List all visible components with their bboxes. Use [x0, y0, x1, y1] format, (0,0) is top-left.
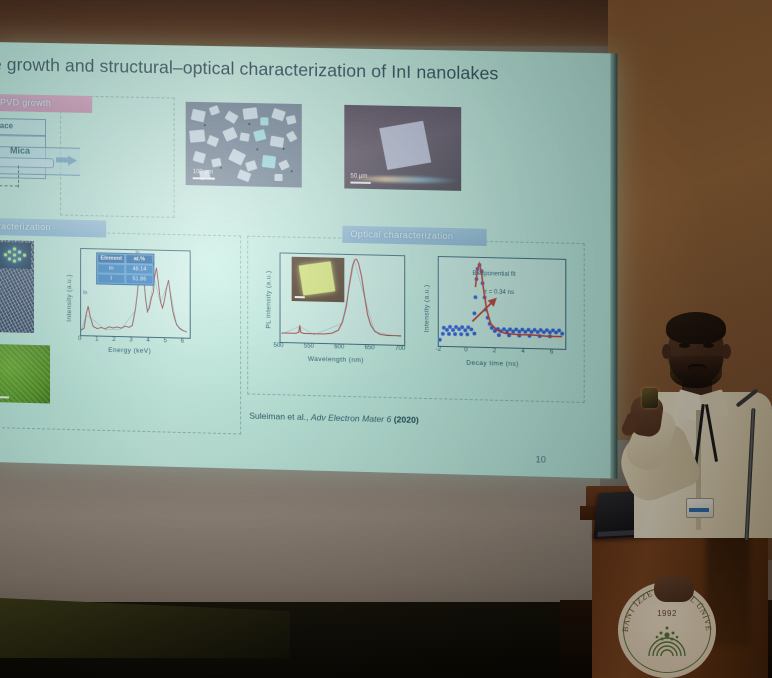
scale-bar: [193, 177, 215, 180]
section-tag-structural: and compositional characterization: [0, 216, 106, 238]
trpl-xtick-0: -2: [436, 347, 441, 353]
edx-xtick-2: 2: [112, 337, 115, 343]
presenter-hair: [666, 312, 726, 344]
citation: Suleiman et al., Adv Electron Mater 6 (2…: [249, 411, 419, 425]
edx-spectrum-chart: Element at.% In 48.14 I 51.86 Intensity …: [56, 241, 197, 363]
citation-year: (2020): [394, 414, 419, 425]
pl-xtick-0: 500: [273, 343, 283, 349]
pl-spectrum-chart: PL intensity (a.u.) Wavelength (nm) 500 …: [253, 244, 411, 375]
pl-xtick-3: 650: [365, 345, 375, 351]
presenter-person: [598, 300, 772, 530]
trpl-decay-chart: Biexponential fit τ = 0.34 ns Intensity …: [411, 247, 574, 378]
presenter-mouth: [688, 364, 706, 372]
edx-composition-table: Element at.% In 48.14 I 51.86: [96, 252, 154, 285]
scale-label: 50 μm: [350, 173, 367, 179]
scale-bar: [350, 181, 370, 184]
edx-ylabel: Intensity (a.u.): [66, 274, 73, 322]
slide-content: e growth and structural–optical characte…: [0, 42, 617, 479]
pl-xtick-4: 700: [395, 346, 405, 352]
presentation-clicker[interactable]: [642, 388, 658, 408]
hrtem-lattice-image: 0.249 nm 5 nm: [0, 238, 34, 333]
trpl-xtick-2: 2: [493, 348, 496, 354]
single-crystal-flake: [379, 121, 431, 170]
edx-xtick-5: 5: [164, 338, 167, 344]
mica-substrate: [0, 157, 54, 168]
lifetime-pointer-arrow-icon: [468, 295, 501, 324]
pl-ylabel: PL intensity (a.u.): [265, 270, 272, 328]
trpl-fit-annotation: Biexponential fit: [472, 271, 515, 278]
optical-micrograph-flakes: 100 μm: [186, 102, 302, 188]
edx-cell-el-0: In: [97, 263, 125, 274]
citation-journal: Adv Electron Mater 6: [311, 412, 391, 424]
section-tag-optical: Optical characterization: [342, 226, 486, 246]
dim-tick-right: [18, 166, 19, 188]
scale-label: 100 μm: [193, 169, 213, 175]
trpl-xtick-3: 4: [521, 349, 524, 355]
edx-peak-label-in: In: [135, 250, 139, 256]
furnace-label: Furnace: [0, 121, 13, 131]
optical-micrograph-single-flake: 50 μm: [344, 105, 461, 191]
presentation-room-scene: e growth and structural–optical characte…: [0, 0, 772, 678]
trpl-ylabel: Intensity (a.u.): [424, 284, 431, 332]
edx-xtick-3: 3: [129, 337, 132, 343]
presenter-ear-right: [722, 344, 731, 359]
trpl-xtick-4: 6: [550, 350, 553, 356]
substrate-label: Mica: [10, 145, 30, 155]
pl-xlabel: Wavelength (nm): [308, 356, 364, 364]
trpl-scatter: [438, 256, 564, 348]
edx-cell-el-1: I: [97, 273, 125, 284]
presenter-beard: [670, 356, 722, 388]
edx-th-element: Element: [97, 253, 125, 264]
edx-cell-val-1: 51.86: [125, 274, 153, 285]
gas-flow-arrow-icon: [68, 156, 77, 166]
citation-authors: Suleiman et al.,: [249, 411, 308, 423]
edx-xtick-1: 1: [95, 336, 98, 342]
edx-map-iodine: I-L: [0, 344, 50, 404]
edx-peak-label-i: I: [152, 262, 153, 268]
edx-xlabel: Energy (keV): [108, 347, 151, 355]
edx-xtick-6: 6: [181, 339, 184, 345]
slide-title: e growth and structural–optical characte…: [0, 54, 599, 87]
trpl-xlabel: Decay time (ns): [466, 360, 519, 368]
edx-xtick-4: 4: [146, 338, 149, 344]
edx-peak-label-in-low: In: [83, 290, 87, 296]
pl-trace: [280, 252, 404, 343]
presenter-eye-right: [703, 343, 714, 348]
dim-line: [0, 184, 18, 186]
edx-cell-val-0: 48.14: [125, 264, 153, 275]
pl-xtick-1: 550: [304, 344, 314, 350]
presenter-name-badge: [686, 498, 714, 518]
edx-xtick-0: 0: [78, 336, 81, 342]
section-tag-pvd-growth: PVD growth: [0, 94, 92, 113]
scale-bar: [0, 395, 9, 398]
pl-xtick-2: 600: [334, 344, 344, 350]
trpl-xtick-1: 0: [464, 347, 467, 353]
projection-screen: e growth and structural–optical characte…: [0, 42, 617, 479]
saed-diffraction-inset: [0, 242, 31, 269]
presenter-resting-hand: [654, 576, 694, 602]
slide-page-number: 10: [536, 454, 546, 464]
presenter-eye-left: [679, 343, 690, 348]
